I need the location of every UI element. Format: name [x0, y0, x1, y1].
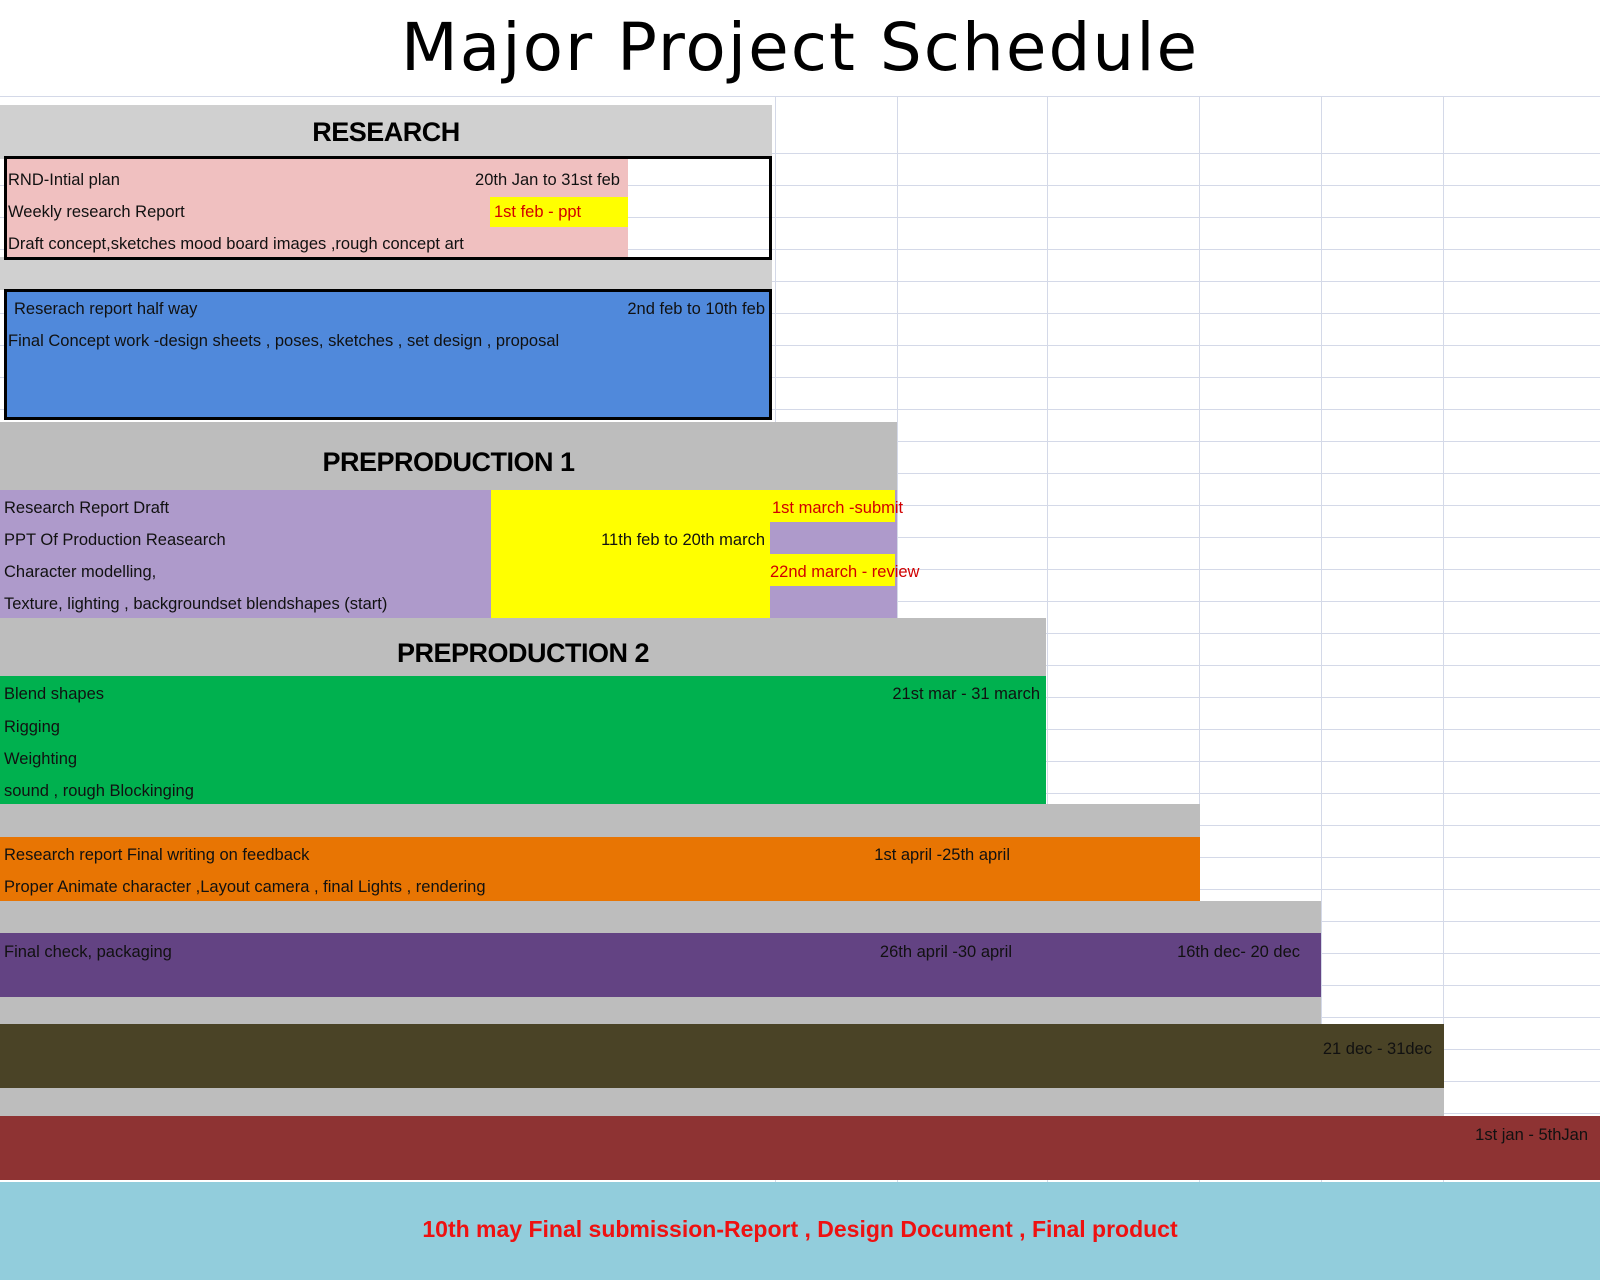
section-header-preproduction-2: PREPRODUCTION 2 — [0, 618, 1046, 676]
spacer-gray-row — [0, 901, 1321, 933]
date-label-review: 22nd march - review — [770, 563, 919, 582]
section-header-preproduction-1: PREPRODUCTION 1 — [0, 422, 897, 490]
spacer-gray-row — [0, 1088, 1444, 1119]
task-label: Texture, lighting , backgroundset blends… — [4, 595, 387, 614]
task-label: Research report Final writing on feedbac… — [4, 846, 309, 865]
spacer-gray-row — [0, 804, 1200, 837]
date-label: 2nd feb to 10th feb — [520, 300, 765, 319]
task-label: Draft concept,sketches mood board images… — [8, 235, 464, 254]
date-label: 1st april -25th april — [780, 846, 1010, 865]
task-label: sound , rough Blockinging — [4, 782, 194, 801]
date-label-submit: 1st march -submit — [772, 499, 903, 518]
task-label: Rigging — [4, 718, 60, 737]
date-label-submit: 1st feb - ppt — [494, 203, 581, 222]
task-label: Weighting — [4, 750, 77, 769]
task-label: Weekly research Report — [8, 203, 185, 222]
date-label: 20th Jan to 31st feb — [370, 171, 620, 190]
task-label: Blend shapes — [4, 685, 104, 704]
task-label: PPT Of Production Reasearch — [4, 531, 226, 550]
lavender-cell-row4 — [770, 586, 895, 618]
page-title: Major Project Schedule — [0, 4, 1600, 92]
task-label: Character modelling, — [4, 563, 156, 582]
section-header-research: RESEARCH — [0, 105, 772, 159]
final-submission-note: 10th may Final submission-Report , Desig… — [0, 1216, 1600, 1243]
date-label: 1st jan - 5thJan — [1330, 1126, 1588, 1145]
date-label: 26th april -30 april — [780, 943, 1012, 962]
spacer-gray-row — [0, 257, 772, 290]
grid-line-h — [0, 96, 1600, 97]
task-label: Research Report Draft — [4, 499, 169, 518]
date-label: 16th dec- 20 dec — [1080, 943, 1300, 962]
date-label: 21 dec - 31dec — [1180, 1040, 1432, 1059]
task-label: Proper Animate character ,Layout camera … — [4, 878, 486, 897]
date-label: 11th feb to 20th march — [510, 531, 765, 550]
task-label: Final Concept work -design sheets , pose… — [8, 332, 559, 351]
date-label: 21st mar - 31 march — [780, 685, 1040, 704]
lavender-cell-row2 — [770, 522, 895, 554]
task-label: RND-Intial plan — [8, 171, 120, 190]
task-label: Reserach report half way — [14, 300, 197, 319]
task-label: Final check, packaging — [4, 943, 172, 962]
